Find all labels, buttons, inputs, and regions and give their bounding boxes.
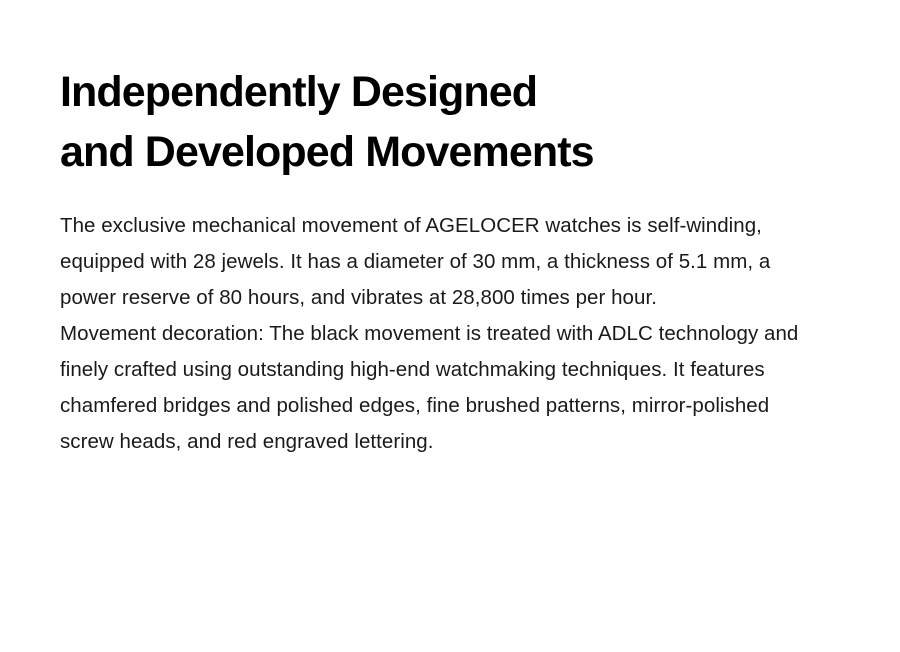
content-container: Independently Designed and Developed Mov… [60,62,830,460]
page-title: Independently Designed and Developed Mov… [60,62,830,182]
product-description-page: Independently Designed and Developed Mov… [0,0,900,652]
paragraph-movement-specs: The exclusive mechanical movement of AGE… [60,208,820,316]
paragraph-movement-decoration: Movement decoration: The black movement … [60,316,820,460]
page-title-line-2: and Developed Movements [60,122,830,182]
page-title-line-1: Independently Designed [60,62,830,122]
description-body: The exclusive mechanical movement of AGE… [60,208,820,460]
